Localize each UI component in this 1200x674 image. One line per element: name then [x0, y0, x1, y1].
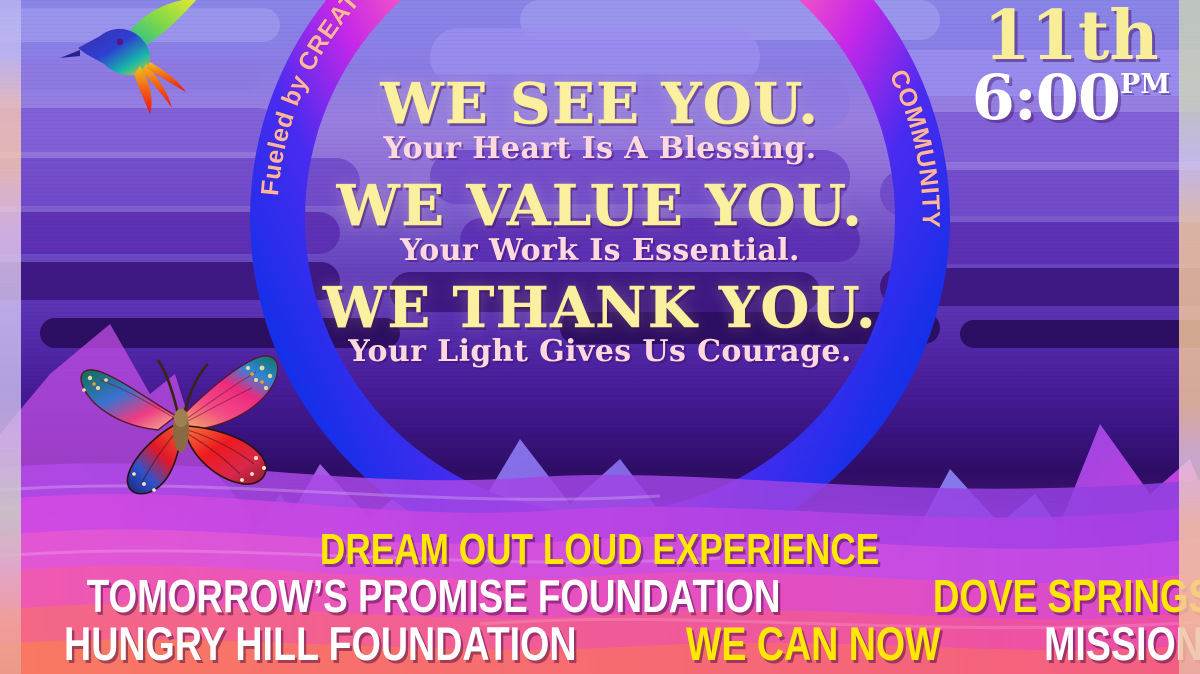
headline-title-2: WE VALUE YOU. [0, 180, 1200, 234]
event-poster: Fueled by CREATIVITY COMMUNITY WE SEE YO… [0, 0, 1200, 674]
organization-list: DREAM OUT LOUD EXPERIENCE TOMORROW’S PRO… [0, 528, 1200, 668]
headline-title-3: WE THANK YOU. [0, 282, 1200, 336]
headline-group-3: WE THANK YOU. Your Light Gives Us Courag… [0, 282, 1200, 368]
org-dream-out-loud-experience: DREAM OUT LOUD EXPERIENCE [320, 528, 879, 573]
headline-subtitle-2: Your Work Is Essential. [0, 236, 1200, 266]
org-hungry-hill-foundation: HUNGRY HILL FOUNDATION [64, 620, 576, 668]
org-dove-springs-proud: DOVE SPRINGS PROUD [933, 573, 1200, 620]
organization-line-1: DREAM OUT LOUD EXPERIENCE [0, 528, 1200, 573]
event-time: 6:00 [972, 67, 1120, 129]
organization-line-2: TOMORROW’S PROMISE FOUNDATION DOVE SPRIN… [0, 573, 1200, 620]
right-edge-strip [1179, 0, 1200, 674]
event-meridiem: PM [1120, 71, 1170, 98]
left-edge-strip [0, 0, 21, 674]
headline-group-2: WE VALUE YOU. Your Work Is Essential. [0, 180, 1200, 266]
org-mission-accomplished: MISSION ACCOMPLISHED [1044, 620, 1200, 668]
headline-subtitle-1: Your Heart Is A Blessing. [0, 134, 1200, 164]
event-datetime: 11th 6:00 PM [966, 4, 1176, 129]
event-day: 11th [966, 4, 1176, 69]
organization-line-3: HUNGRY HILL FOUNDATION WE CAN NOW MISSIO… [0, 620, 1200, 668]
org-we-can-now: WE CAN NOW [686, 620, 941, 668]
headline-subtitle-3: Your Light Gives Us Courage. [0, 337, 1200, 367]
org-tomorrows-promise-foundation: TOMORROW’S PROMISE FOUNDATION [87, 573, 781, 620]
event-time-row: 6:00 PM [966, 67, 1176, 129]
